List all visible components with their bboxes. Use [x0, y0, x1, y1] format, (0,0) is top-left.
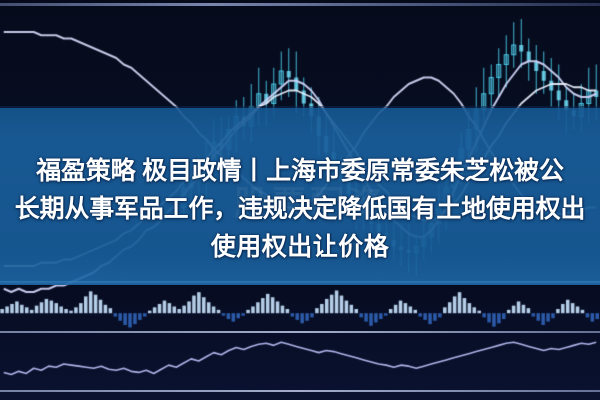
mid-panel-divider: [0, 331, 600, 333]
bottom-panel-divider: [0, 390, 600, 392]
headline-text: 福盈策略 极目政情丨上海市委原常委朱芝松被公 长期从事军品工作，违规决定降低国有…: [0, 152, 600, 266]
headline-line-1: 福盈策略 极目政情丨上海市委原常委朱芝松被公: [0, 152, 600, 190]
banner-image: 股票配资 福盈策略 极目政情丨上海市委原常委朱芝松被公 长期从事军品工作，违规决…: [0, 0, 600, 400]
headline-band-bottom-edge: [0, 281, 600, 285]
top-divider-line: [0, 3, 600, 6]
headline-line-2: 长期从事军品工作，违规决定降低国有土地使用权出: [0, 190, 600, 228]
headline-line-3: 使用权出让价格: [0, 228, 600, 266]
